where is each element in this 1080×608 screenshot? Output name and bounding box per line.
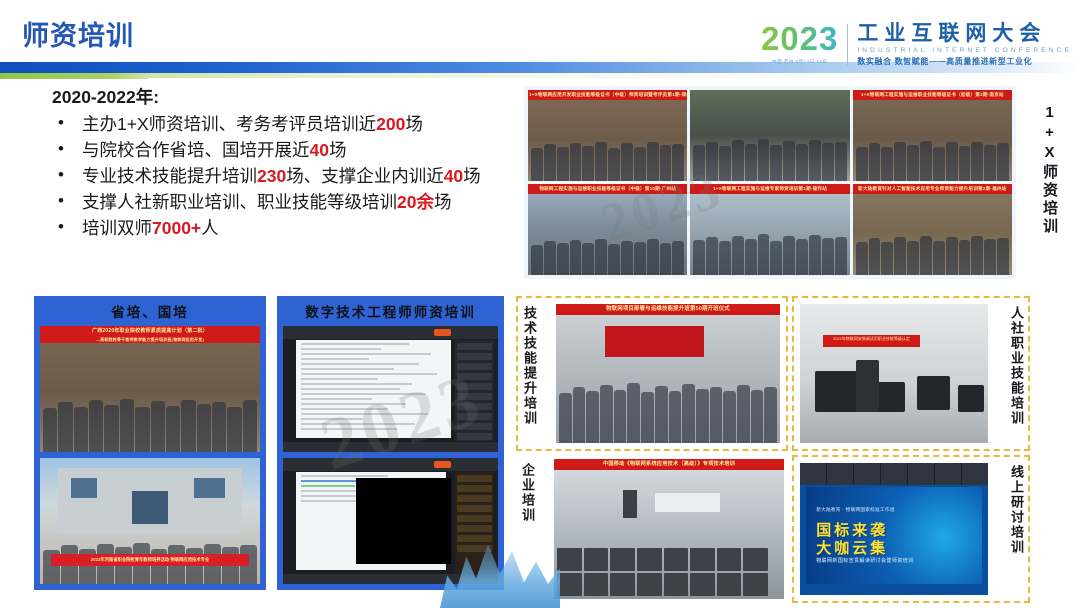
- bullet-suffix: 场、支撑企业内训近: [286, 166, 444, 186]
- bullet-number: 40: [310, 140, 329, 160]
- poster-brand: 新大陆教育 · 物联网国家标准工作组: [816, 507, 894, 513]
- crowd-silhouette: [690, 125, 849, 181]
- participant-video-strip: [800, 463, 988, 485]
- bullet-text: 专业技术技能提升培训: [82, 166, 257, 186]
- label-hr-skill-training: 人社职业技能培训: [1009, 306, 1024, 426]
- conference-name-cn: 工业互联网大会: [857, 22, 1072, 45]
- crowd-silhouette: [853, 125, 1012, 181]
- label-tech-skill-training: 技术技能提升培训: [522, 306, 537, 426]
- bullet-suffix: 人: [201, 218, 219, 238]
- shared-document: [296, 340, 451, 438]
- photo-banner: 2022年物联网安装调试员职业技能等级认定: [823, 335, 921, 348]
- video-area: [356, 478, 451, 564]
- crowd-silhouette: [690, 219, 849, 275]
- panel-screenshot-stack: [283, 326, 498, 584]
- panel-provincial-national-training: 省培、国培 广西2020年职业院校教师素质提高计划（第二批） —高职院校骨干教师…: [34, 296, 266, 590]
- photo-ceremony: 物联网项目部署与运维技能提升班第50期开班仪式: [556, 304, 780, 443]
- conference-logo: 2023 中国·苏州 8月14日-16日 工业互联网大会 INDUSTRIAL …: [761, 22, 1072, 67]
- bullet-number: 230: [257, 166, 286, 186]
- poster-subtitle: 物联网新国标宣贯解读研讨会暨师资培训: [816, 557, 913, 564]
- photo-caption: 中国移动《物联网系统应用技术（高级）》专项技术培训: [554, 459, 784, 470]
- photo-classroom: 中国移动《物联网系统应用技术（高级）》专项技术培训: [554, 459, 784, 599]
- desk-grid: [554, 507, 784, 599]
- panel-digital-engineer-training: 数字技术工程师师资培训: [277, 296, 504, 590]
- photo-caption: 广西2020年职业院校教师素质提高计划（第二批）: [40, 326, 260, 336]
- bullet-suffix-2: 场: [463, 166, 481, 186]
- conference-name-block: 工业互联网大会 INDUSTRIAL INTERNET CONFERENCE 数…: [848, 22, 1072, 67]
- bullet-list: 主办1+X师资培训、考务考评员培训近200场 与院校合作省培、国培开展近40场 …: [52, 111, 522, 241]
- monitor-icon: [958, 385, 984, 413]
- panel-title: 数字技术工程师师资培训: [277, 301, 504, 321]
- photo-caption-sub: —高职院校骨干教师教学能力提升培训班(物联网应用开发): [40, 336, 260, 343]
- crowd-silhouette: [556, 362, 780, 443]
- list-item: 培训双师7000+人: [52, 215, 522, 241]
- photo-banner: 2022年河南省职业院校青年教师培养活动-物联网应用技术专业: [51, 554, 249, 567]
- photo-caption: 物联网工程实施与运维职业技能等级证书（中级）第10期-广州站: [528, 184, 687, 194]
- header-green-accent: [0, 73, 148, 79]
- crowd-silhouette: [853, 219, 1012, 275]
- conference-year-subtitle: 中国·苏州 8月14日-16日: [761, 59, 838, 65]
- list-item: 支撑人社新职业培训、职业技能等级培训20余场: [52, 189, 522, 215]
- photo-group-5: 1+X物联网工程实施与运维专家师资培训第1期-操作站: [690, 184, 849, 275]
- bullet-number: 200: [376, 114, 405, 134]
- panel-photo-stack: 广西2020年职业院校教师素质提高计划（第二批） —高职院校骨干教师教学能力提升…: [40, 326, 260, 584]
- photo-caption: 1+X物联网应用开发职业技能等级证书（中级）师资培训暨考评员第1期-郑州站: [528, 90, 687, 100]
- leave-meeting-button[interactable]: [434, 329, 451, 337]
- collage-1plusx: 1+X物联网应用开发职业技能等级证书（中级）师资培训暨考评员第1期-郑州站 1+…: [524, 86, 1016, 279]
- conference-year-block: 2023 中国·苏州 8月14日-16日: [761, 22, 847, 65]
- bullet-number-2: 40: [444, 166, 463, 186]
- window-icon: [71, 478, 97, 498]
- bullet-suffix: 场: [434, 192, 452, 212]
- banner-text: 2022年河南省职业院校青年教师培养活动-物联网应用技术专业: [51, 554, 249, 565]
- bullet-text-block: 2020-2022年: 主办1+X师资培训、考务考评员培训近200场 与院校合作…: [52, 84, 522, 241]
- label-enterprise-training: 企业培训: [520, 463, 535, 523]
- poster-headline-2: 大咖云集: [816, 537, 888, 558]
- photo-group-4: 物联网工程实施与运维职业技能等级证书（中级）第10期-广州站: [528, 184, 687, 275]
- person-silhouette: [856, 360, 879, 413]
- photo-webinar-poster: 新大陆教育 · 物联网国家标准工作组 国标来袭 大咖云集 物联网新国标宣贯解读研…: [800, 463, 988, 595]
- list-item: 与院校合作省培、国培开展近40场: [52, 137, 522, 163]
- toolbar: [283, 458, 498, 471]
- crowd-silhouette: [528, 125, 687, 181]
- list-item: 专业技术技能提升培训230场、支撑企业内训近40场: [52, 163, 522, 189]
- leave-meeting-button[interactable]: [434, 461, 451, 469]
- cell-online-seminar-training: 新大陆教育 · 物联网国家标准工作组 国标来袭 大咖云集 物联网新国标宣贯解读研…: [792, 455, 1030, 603]
- crowd-silhouette: [40, 374, 260, 452]
- stage-backdrop: [605, 326, 704, 357]
- cell-hr-skill-training: 2022年物联网安装调试员职业技能等级认定 人社职业技能培训: [792, 296, 1030, 451]
- conference-year: 2023: [761, 22, 838, 56]
- bullet-text: 与院校合作省培、国培开展近: [82, 140, 310, 160]
- panel-title: 省培、国培: [34, 301, 266, 321]
- crowd-silhouette: [528, 219, 687, 275]
- slide-root: 师资培训 2023 中国·苏州 8月14日-16日 工业互联网大会 INDUST…: [0, 0, 1080, 608]
- bullet-suffix: 场: [405, 114, 423, 134]
- meeting-controls[interactable]: [283, 442, 498, 452]
- window-icon: [194, 478, 225, 498]
- cell-tech-skill-training: 技术技能提升培训 物联网项目部署与运维技能提升班第50期开班仪式: [516, 296, 788, 451]
- photo-group-1: 1+X物联网应用开发职业技能等级证书（中级）师资培训暨考评员第1期-郑州站: [528, 90, 687, 181]
- toolbar: [283, 326, 498, 339]
- screenshare-1: [283, 326, 498, 452]
- photo-skill-assessment: 2022年物联网安装调试员职业技能等级认定: [800, 304, 988, 443]
- photo-group-3: 1+X物联网工程实施与运维职业技能等级证书（初级）第2期-南京站: [853, 90, 1012, 181]
- door-icon: [132, 491, 167, 524]
- bullets-heading: 2020-2022年:: [52, 84, 522, 109]
- header-green-fade: [148, 73, 1080, 78]
- photo-group-6: 新大陆教育针对人工智能技术应用专业师资能力提升培训第2期-福州站: [853, 184, 1012, 275]
- bullet-text: 支撑人社新职业培训、职业技能等级培训: [82, 192, 397, 212]
- photo-henan-training: 2022年河南省职业院校青年教师培养活动-物联网应用技术专业: [40, 458, 260, 584]
- list-item: 主办1+X师资培训、考务考评员培训近200场: [52, 111, 522, 137]
- banner-text: 2022年物联网安装调试员职业技能等级认定: [823, 335, 921, 343]
- bullet-number: 7000+: [152, 218, 201, 238]
- photo-caption: 物联网项目部署与运维技能提升班第50期开班仪式: [556, 304, 780, 315]
- photo-caption: 1+X物联网工程实施与运维职业技能等级证书（初级）第2期-南京站: [853, 90, 1012, 100]
- participants-panel[interactable]: [455, 340, 494, 441]
- bullet-text: 培训双师: [82, 218, 152, 238]
- monitor-icon: [875, 382, 905, 413]
- photo-caption: 新大陆教育针对人工智能技术应用专业师资能力提升培训第2期-福州站: [853, 184, 1012, 194]
- bullet-number: 20余: [397, 192, 434, 212]
- photo-caption: 1+X物联网工程实施与运维专家师资培训第1期-操作站: [690, 184, 849, 194]
- label-1plusx-training: 1+X师资培训: [1041, 104, 1058, 236]
- label-online-seminar-training: 线上研讨培训: [1009, 465, 1024, 555]
- poster-body: 新大陆教育 · 物联网国家标准工作组 国标来袭 大咖云集 物联网新国标宣贯解读研…: [806, 487, 983, 585]
- bullet-suffix: 场: [329, 140, 347, 160]
- photo-guangxi-training: 广西2020年职业院校教师素质提高计划（第二批） —高职院校骨干教师教学能力提升…: [40, 326, 260, 452]
- page-title: 师资培训: [22, 14, 134, 53]
- conference-name-en: INDUSTRIAL INTERNET CONFERENCE: [857, 47, 1072, 54]
- conference-slogan: 数实融合 数智赋能——高质量推进新型工业化: [857, 56, 1072, 67]
- bullet-text: 主办1+X师资培训、考务考评员培训近: [82, 114, 376, 134]
- monitor-icon: [917, 376, 951, 409]
- photo-group-2: [690, 90, 849, 181]
